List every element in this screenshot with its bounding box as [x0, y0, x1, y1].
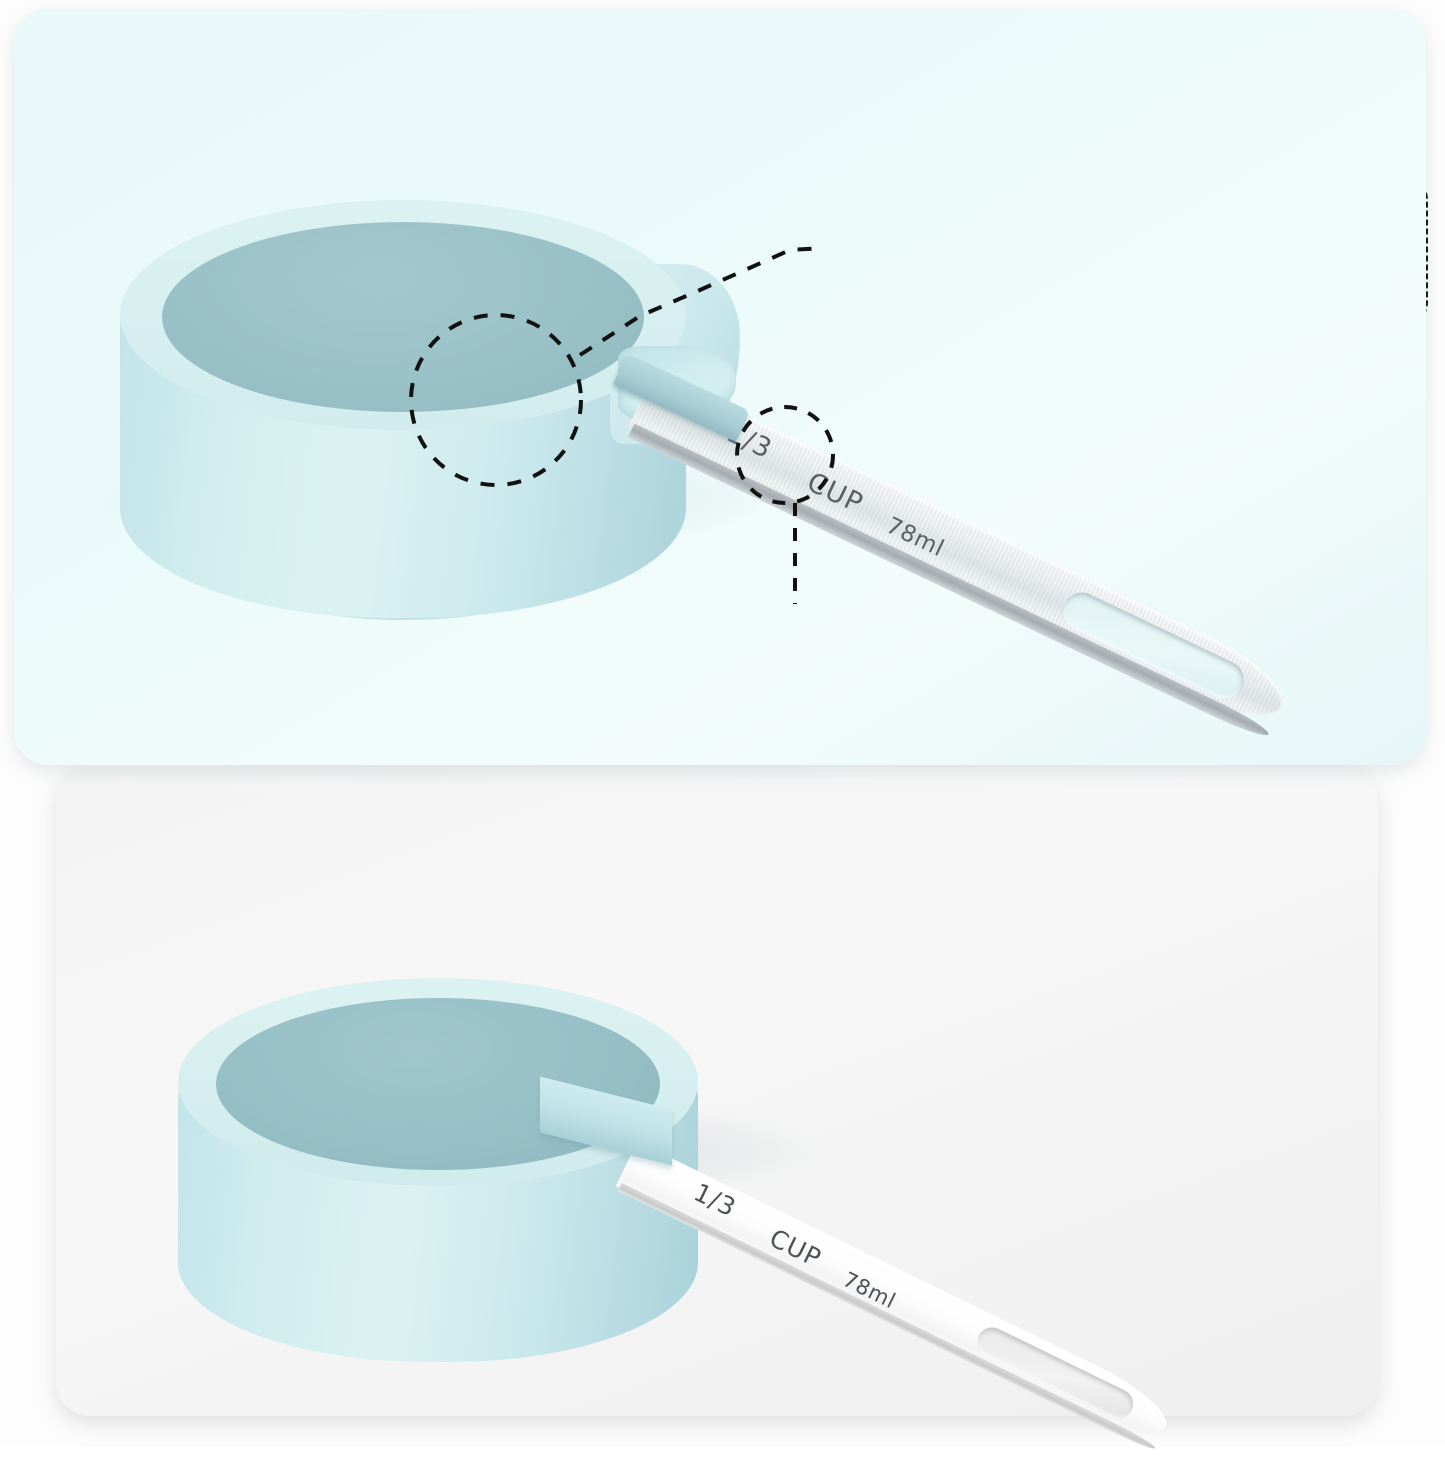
infographic-stage: NEW UPGRADE Other products 1/3 CUP 78ml …: [0, 0, 1445, 1447]
guide-angle-highlight-circle: [411, 315, 581, 485]
thickness-highlight-circle: [737, 407, 833, 503]
annotation-layer-top: [0, 0, 1445, 1447]
guide-angle-leader-line: [580, 248, 824, 355]
